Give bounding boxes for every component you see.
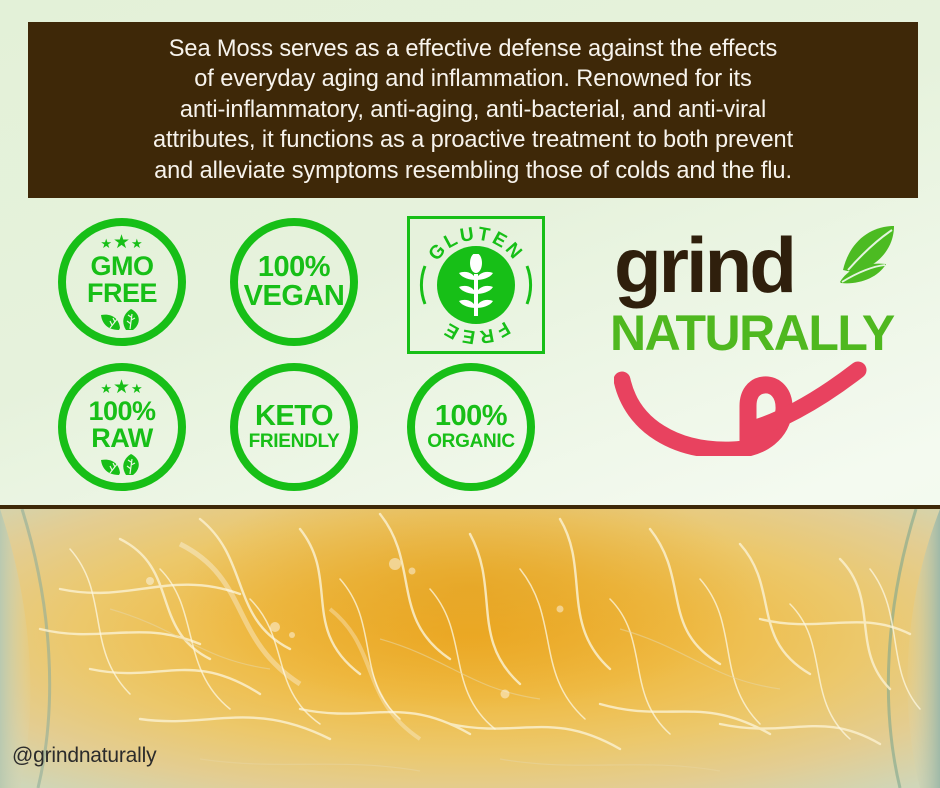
badge-gmo-free-line1: GMO (91, 253, 154, 280)
leaves-icon (99, 454, 145, 476)
badge-gmo-free-line2: FREE (87, 280, 157, 307)
badge-gmo-free: ★★★ GMO FREE (58, 218, 186, 346)
certification-badges: ★★★ GMO FREE 100% VEGAN (0, 208, 600, 500)
logo-word-grind: grind (614, 226, 794, 304)
badge-raw-line2: RAW (91, 425, 153, 452)
stars-icon: ★★★ (100, 378, 143, 397)
badge-keto-line1: KETO (255, 402, 333, 431)
logo-word-naturally: NATURALLY (610, 308, 894, 358)
swoosh-icon (614, 360, 894, 461)
poster: Sea Moss serves as a effective defense a… (0, 0, 940, 788)
badge-keto-line2: FRIENDLY (249, 431, 340, 452)
product-photo: @grindnaturally (0, 505, 940, 788)
info-panel: Sea Moss serves as a effective defense a… (28, 22, 918, 198)
brand-logo: grind NATURALLY (606, 222, 906, 472)
leaves-icon (99, 309, 145, 331)
stars-icon: ★★★ (100, 233, 143, 252)
wheat-stalk-icon (437, 246, 515, 324)
badge-organic-line1: 100% (435, 402, 507, 431)
watermark-handle: @grindnaturally (12, 744, 156, 768)
leaf-icon (838, 224, 908, 291)
badge-vegan-line1: 100% (258, 253, 330, 282)
info-paragraph: Sea Moss serves as a effective defense a… (139, 34, 807, 187)
badge-organic: 100% ORGANIC (407, 363, 535, 491)
badge-gluten-free: GLUTEN FREE (407, 216, 545, 354)
badge-vegan-line2: VEGAN (244, 282, 345, 311)
badge-keto-friendly: KETO FRIENDLY (230, 363, 358, 491)
badge-raw: ★★★ 100% RAW (58, 363, 186, 491)
badge-vegan: 100% VEGAN (230, 218, 358, 346)
badge-organic-line2: ORGANIC (427, 431, 515, 452)
badge-raw-line1: 100% (88, 398, 155, 425)
